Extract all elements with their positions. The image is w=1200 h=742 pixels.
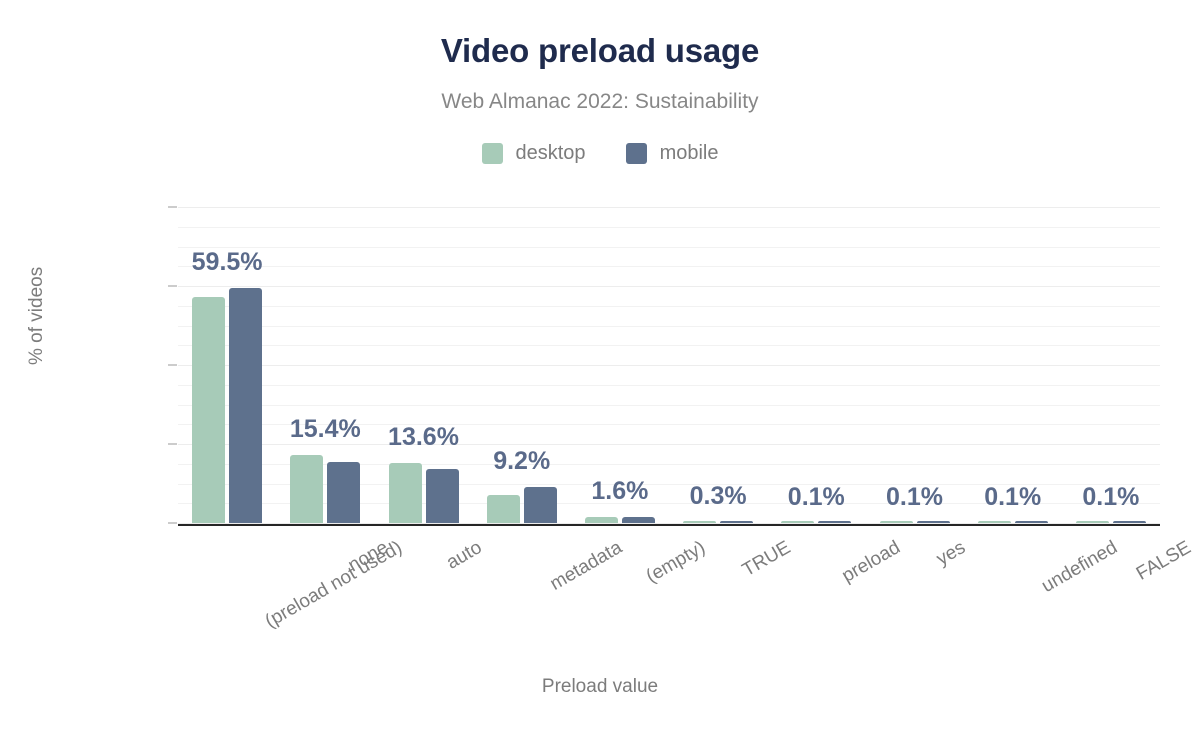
bar-mobile-1[interactable] xyxy=(327,462,360,523)
x-axis-tick-label-2: auto xyxy=(442,537,485,575)
bar-value-label-3: 9.2% xyxy=(493,447,550,476)
chart-legend: desktopmobile xyxy=(0,142,1200,165)
bar-value-label-9: 0.1% xyxy=(1082,483,1139,512)
bar-value-label-0: 59.5% xyxy=(192,248,263,277)
bar-desktop-8[interactable] xyxy=(978,521,1011,524)
gridline xyxy=(178,247,1160,248)
legend-label-desktop: desktop xyxy=(516,142,586,165)
bar-value-label-7: 0.1% xyxy=(886,483,943,512)
bar-value-label-6: 0.1% xyxy=(788,483,845,512)
bar-value-label-2: 13.6% xyxy=(388,423,459,452)
bar-mobile-7[interactable] xyxy=(917,521,950,524)
bar-desktop-3[interactable] xyxy=(487,495,520,523)
gridline xyxy=(178,207,1160,208)
bar-mobile-2[interactable] xyxy=(426,469,459,523)
x-axis-title: Preload value xyxy=(0,676,1200,698)
bar-desktop-1[interactable] xyxy=(290,455,323,523)
bar-mobile-9[interactable] xyxy=(1113,521,1146,524)
chart-container: Video preload usage Web Almanac 2022: Su… xyxy=(0,0,1200,742)
x-axis-tick-label-3: metadata xyxy=(546,537,626,596)
chart-title: Video preload usage xyxy=(0,32,1200,70)
gridline xyxy=(178,227,1160,228)
bar-value-label-8: 0.1% xyxy=(984,483,1041,512)
bar-desktop-7[interactable] xyxy=(880,521,913,524)
gridline xyxy=(178,286,1160,287)
legend-item-mobile[interactable]: mobile xyxy=(626,142,719,165)
y-axis-tick-mark xyxy=(168,286,177,287)
x-axis-tick-label-6: preload xyxy=(839,537,905,588)
bar-desktop-6[interactable] xyxy=(781,521,814,524)
bar-mobile-6[interactable] xyxy=(818,521,851,524)
gridline xyxy=(178,405,1160,406)
x-axis-tick-label-4: (empty) xyxy=(643,537,710,588)
bar-mobile-4[interactable] xyxy=(622,517,655,523)
gridline xyxy=(178,365,1160,366)
y-axis-tick-mark xyxy=(168,444,177,445)
chart-subtitle: Web Almanac 2022: Sustainability xyxy=(0,90,1200,114)
y-axis-tick-mark xyxy=(168,365,177,366)
bar-mobile-3[interactable] xyxy=(524,487,557,523)
bar-value-label-4: 1.6% xyxy=(591,477,648,506)
y-axis-tick-mark xyxy=(168,207,177,208)
gridline xyxy=(178,266,1160,267)
gridline xyxy=(178,345,1160,346)
bar-mobile-5[interactable] xyxy=(720,521,753,524)
plot-area: 0.0%20.0%40.0%60.0%80.0%59.5%(preload no… xyxy=(178,207,1160,523)
gridline xyxy=(178,385,1160,386)
gridline xyxy=(178,464,1160,465)
bar-mobile-0[interactable] xyxy=(229,288,262,523)
gridline xyxy=(178,326,1160,327)
bar-desktop-2[interactable] xyxy=(389,463,422,523)
x-axis-tick-label-7: yes xyxy=(932,537,969,571)
x-axis-tick-label-5: TRUE xyxy=(739,537,795,582)
x-axis-tick-label-8: undefined xyxy=(1038,537,1121,598)
bar-mobile-8[interactable] xyxy=(1015,521,1048,524)
bar-value-label-5: 0.3% xyxy=(690,482,747,511)
legend-swatch-mobile xyxy=(626,143,647,164)
x-axis-tick-label-9: FALSE xyxy=(1133,537,1195,586)
bar-desktop-9[interactable] xyxy=(1076,521,1109,524)
legend-swatch-desktop xyxy=(482,143,503,164)
gridline xyxy=(178,523,1160,524)
legend-label-mobile: mobile xyxy=(660,142,719,165)
gridline xyxy=(178,306,1160,307)
y-axis-tick-mark xyxy=(168,523,177,524)
gridline xyxy=(178,444,1160,445)
legend-item-desktop[interactable]: desktop xyxy=(482,142,586,165)
bar-desktop-0[interactable] xyxy=(192,297,225,523)
bar-desktop-4[interactable] xyxy=(585,517,618,523)
bar-desktop-5[interactable] xyxy=(683,521,716,524)
y-axis-title: % of videos xyxy=(26,267,48,365)
bar-value-label-1: 15.4% xyxy=(290,415,361,444)
